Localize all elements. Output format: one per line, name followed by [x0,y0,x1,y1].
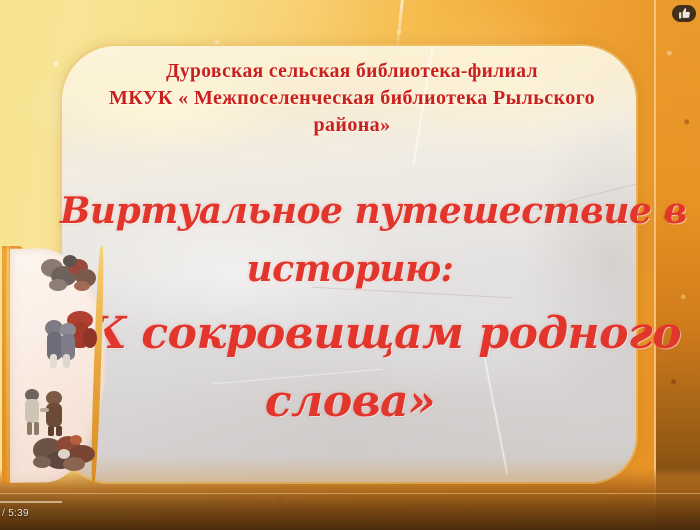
org-header-line-3: района» [78,112,626,139]
figure-group-battle [28,430,98,476]
slide-main-title-line-2: слова» [60,368,640,436]
warriors-icon [36,308,102,372]
slide-border-bottom-rule [0,493,700,494]
panel-bottom-glow [62,456,636,482]
org-header-line-2: МКУК « Межпоселенческая библиотека Рыльс… [78,85,626,112]
horsemen-icon [36,252,100,296]
scroll-left-edge [6,246,10,484]
slide-main-title-line-1: «К сокровищам родного [60,300,640,368]
video-timestamp: / 5:39 [2,508,29,519]
video-frame: Дуровская сельская библиотека-филиал МКУ… [0,0,700,530]
thumbs-up-icon [678,7,691,20]
org-header-line-1: Дуровская сельская библиотека-филиал [78,58,626,85]
slide-subtitle-line-1: Виртуальное путешествие в [60,182,640,240]
slide-subtitle: Виртуальное путешествие в историю: [60,182,640,298]
time-separator: / [2,508,5,519]
slide-border-right-strip [656,0,700,530]
slide-subtitle-line-2: историю: [60,240,640,298]
scroll-illustration [2,246,120,484]
battle-icon [28,430,98,476]
figure-group-warriors [36,308,102,372]
organization-header: Дуровская сельская библиотека-филиал МКУ… [78,58,626,139]
slide-border-right-highlight [654,0,656,530]
progress-bar-sliver[interactable] [0,501,62,503]
figure-group-horsemen [36,252,100,296]
video-duration: 5:39 [8,508,29,519]
like-button[interactable] [672,5,696,22]
slide-main-title: «К сокровищам родного слова» [60,300,640,436]
